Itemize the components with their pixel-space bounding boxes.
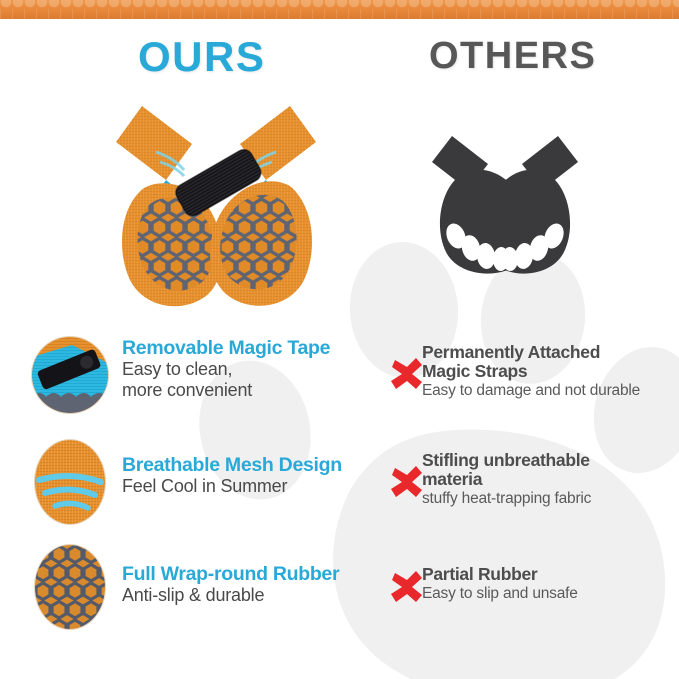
- feature-sub-ours-line1: Easy to clean,: [122, 359, 390, 380]
- feature-title-others-line2: materia: [422, 470, 674, 489]
- feature-title-others-line1: Permanently Attached: [422, 343, 674, 362]
- column-header-ours: OURS: [138, 33, 265, 81]
- feature-title-others-line1: Stifling unbreathable: [422, 451, 674, 470]
- feature-icon-rubber: [35, 545, 105, 629]
- column-header-others: OTHERS: [429, 35, 596, 78]
- feature-text-others: Stifling unbreathable materia stuffy hea…: [422, 451, 674, 508]
- feature-title-others-line2: Magic Straps: [422, 362, 674, 381]
- sock-foot-right: [210, 181, 312, 306]
- feature-sub-ours-line1: Feel Cool in Summer: [122, 476, 390, 497]
- feature-title-ours: Full Wrap-round Rubber: [122, 563, 390, 585]
- red-x-icon: [389, 569, 425, 605]
- feature-sub-others: stuffy heat-trapping fabric: [422, 490, 674, 508]
- hero-image-ours: [100, 100, 332, 322]
- red-x-icon: [389, 356, 425, 392]
- feature-text-others: Permanently Attached Magic Straps Easy t…: [422, 343, 674, 400]
- feature-sub-others: Easy to slip and unsafe: [422, 585, 674, 603]
- feature-row: Full Wrap-round Rubber Anti-slip & durab…: [0, 545, 679, 637]
- feature-title-ours: Removable Magic Tape: [122, 337, 390, 359]
- feature-row: Removable Magic Tape Easy to clean, more…: [0, 335, 679, 427]
- feature-sub-ours-line1: Anti-slip & durable: [122, 585, 390, 606]
- feature-row: Breathable Mesh Design Feel Cool in Summ…: [0, 440, 679, 532]
- feature-title-ours: Breathable Mesh Design: [122, 454, 390, 476]
- top-honeycomb-banner: [0, 0, 679, 19]
- feature-sub-ours-line2: more convenient: [122, 380, 390, 401]
- hero-image-others: [422, 128, 587, 286]
- red-x-icon: [389, 464, 425, 500]
- feature-text-ours: Removable Magic Tape Easy to clean, more…: [122, 337, 390, 401]
- feature-text-others: Partial Rubber Easy to slip and unsafe: [422, 565, 674, 603]
- feature-icon-mesh: [35, 440, 105, 524]
- feature-icon-magic-tape: [32, 337, 108, 413]
- feature-title-others-line1: Partial Rubber: [422, 565, 674, 584]
- feature-text-ours: Full Wrap-round Rubber Anti-slip & durab…: [122, 563, 390, 606]
- honeycomb-texture-row2: [0, 9, 679, 19]
- feature-sub-others: Easy to damage and not durable: [422, 382, 674, 400]
- feature-text-ours: Breathable Mesh Design Feel Cool in Summ…: [122, 454, 390, 497]
